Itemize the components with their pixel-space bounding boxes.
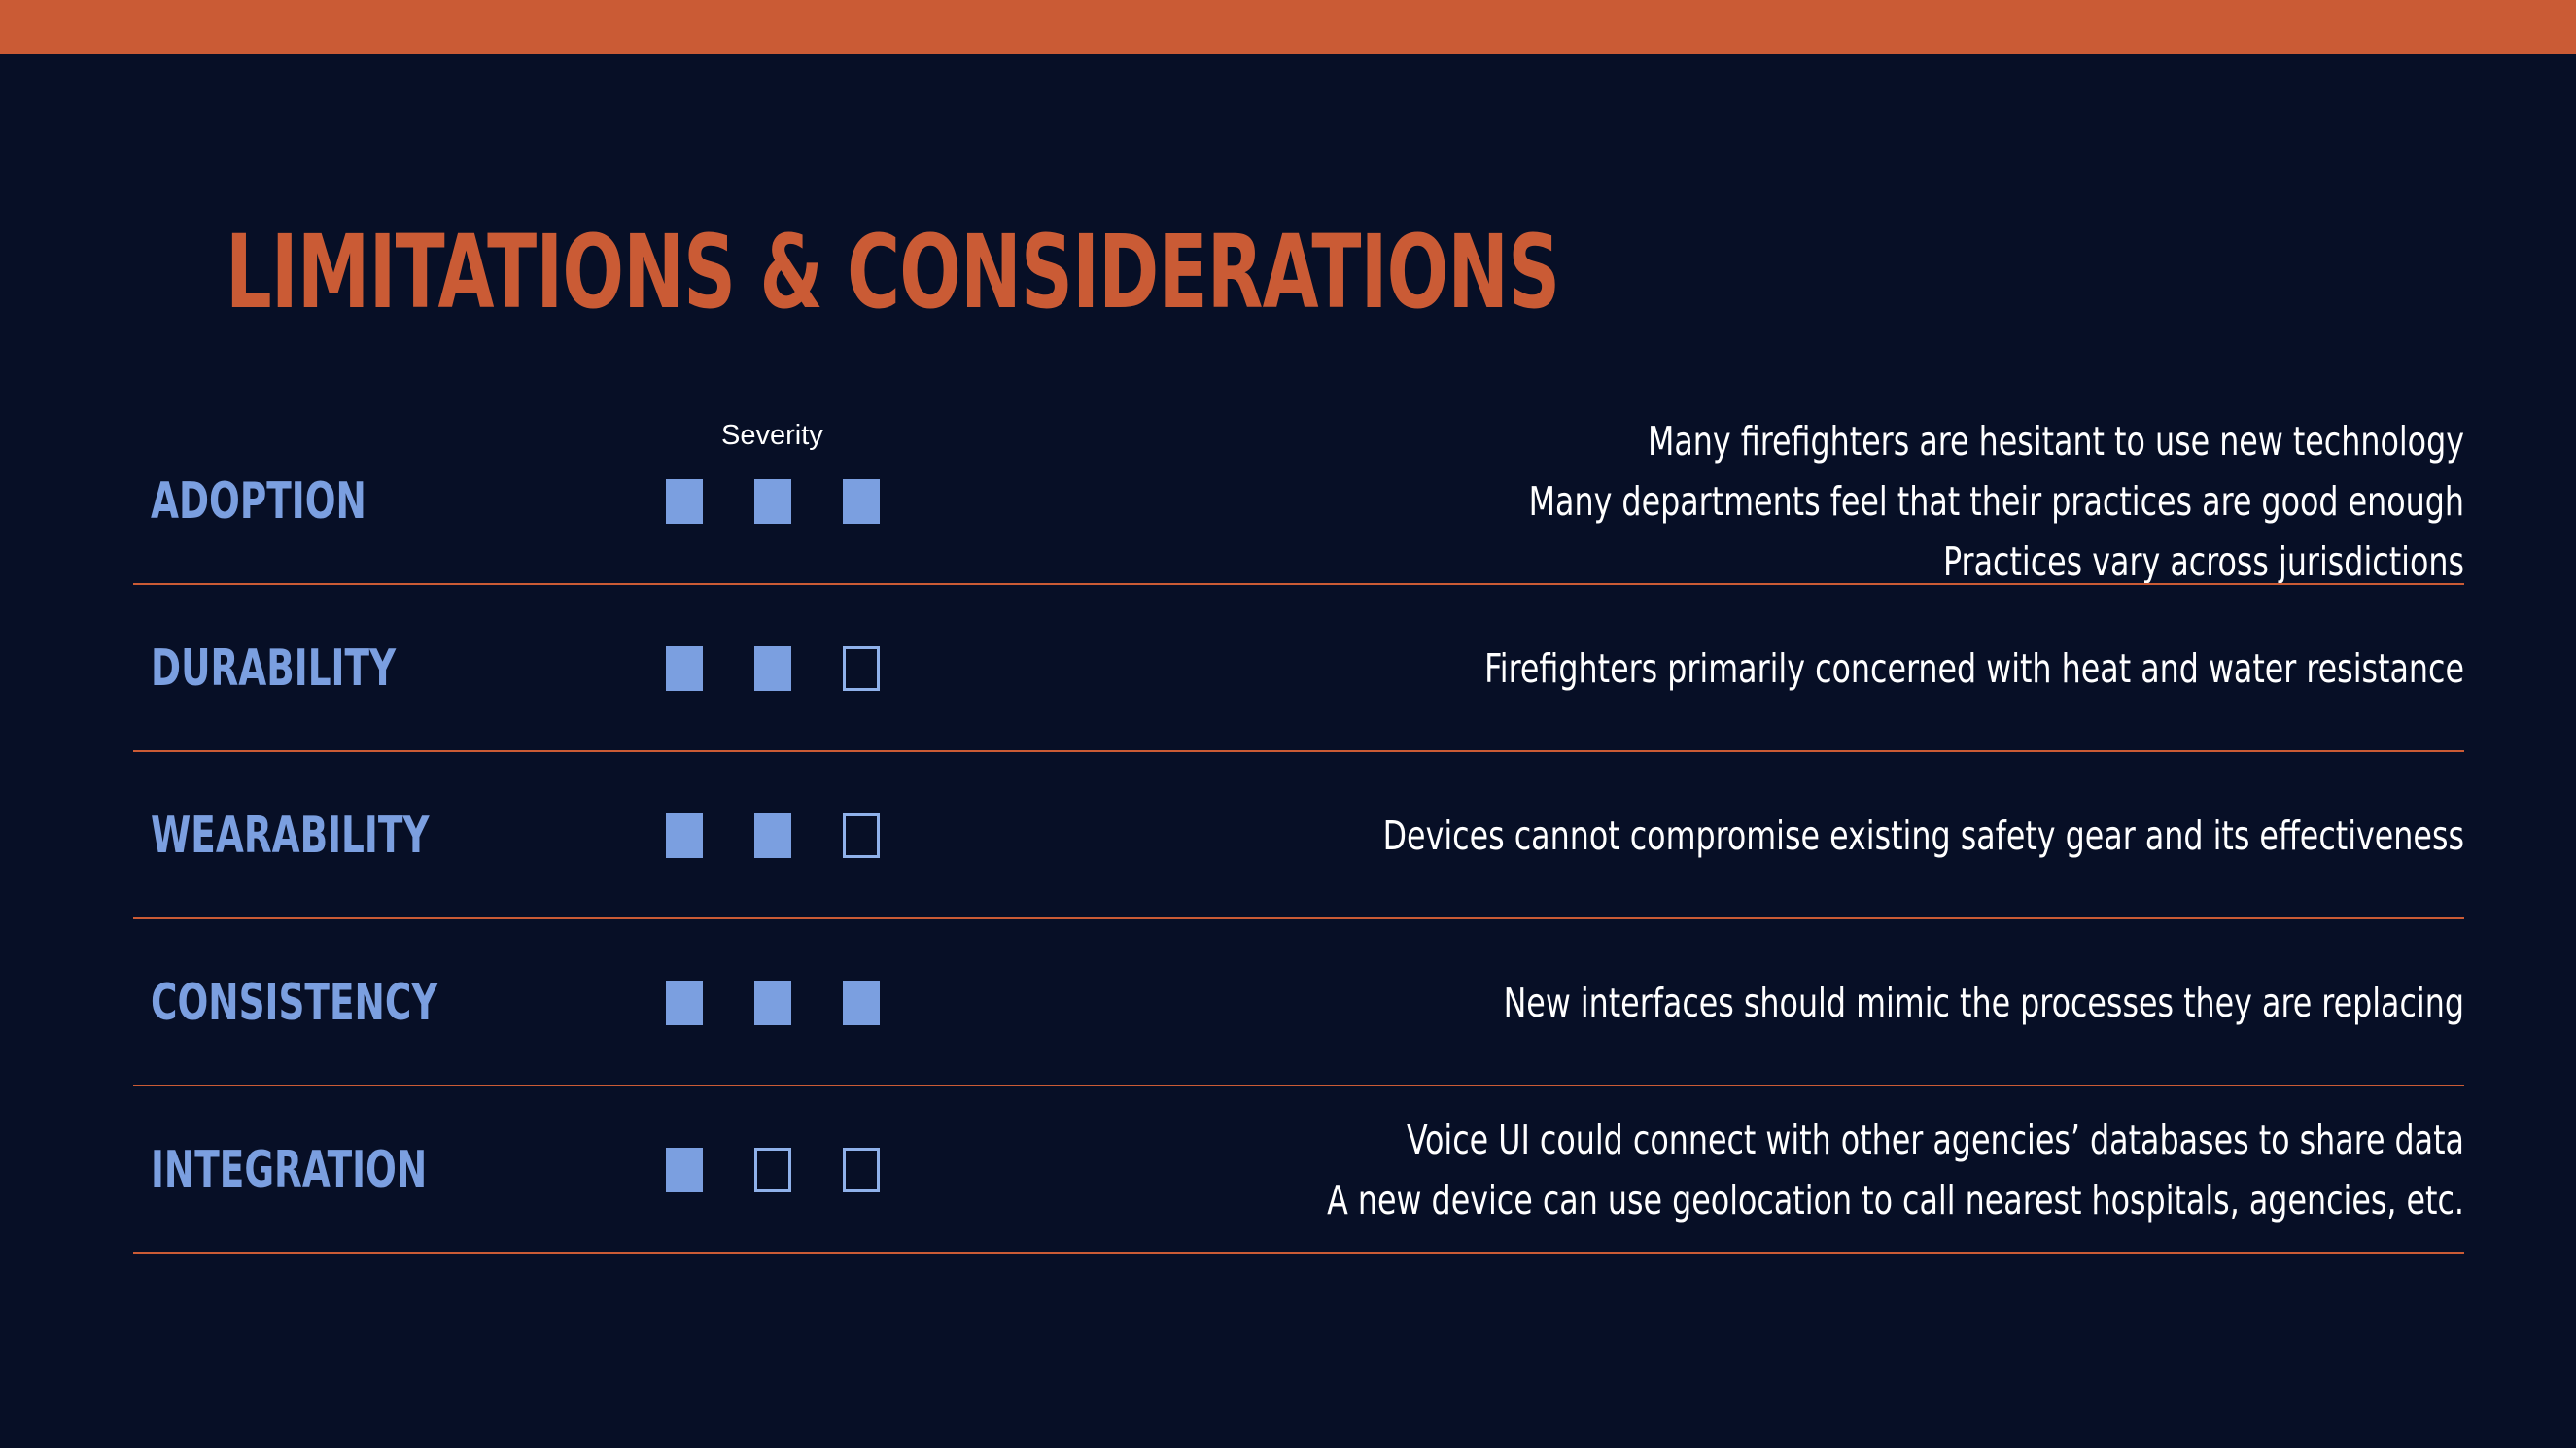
row-description: Many firefighters are hesitant to use ne… <box>1177 411 2464 593</box>
row-description: Voice UI could connect with other agenci… <box>1177 1110 2464 1231</box>
severity-box-empty <box>843 646 880 691</box>
severity-rating <box>666 646 967 691</box>
severity-box-filled <box>754 479 791 524</box>
row-description: Firefighters primarily concerned with he… <box>1177 638 2464 699</box>
severity-box-filled <box>666 646 703 691</box>
severity-box-filled <box>666 981 703 1025</box>
row-content: WEARABILITYDevices cannot compromise exi… <box>0 752 2576 919</box>
severity-box-filled <box>754 646 791 691</box>
severity-rating <box>666 981 967 1025</box>
severity-box-filled <box>754 981 791 1025</box>
severity-box-filled <box>843 981 880 1025</box>
description-line: Many departments feel that their practic… <box>1177 471 2464 532</box>
description-line: Firefighters primarily concerned with he… <box>1177 638 2464 699</box>
severity-box-filled <box>666 479 703 524</box>
severity-box-empty <box>754 1148 791 1192</box>
table-row: ADOPTIONMany firefighters are hesitant t… <box>0 418 2576 585</box>
description-line: Voice UI could connect with other agenci… <box>1177 1110 2464 1170</box>
row-content: DURABILITYFirefighters primarily concern… <box>0 585 2576 752</box>
row-category-label: DURABILITY <box>151 639 563 698</box>
row-category-label: WEARABILITY <box>151 807 563 865</box>
severity-box-empty <box>843 813 880 858</box>
table-row: CONSISTENCYNew interfaces should mimic t… <box>0 919 2576 1086</box>
row-content: ADOPTIONMany firefighters are hesitant t… <box>0 418 2576 585</box>
severity-box-filled <box>754 813 791 858</box>
row-category-label: INTEGRATION <box>151 1141 563 1199</box>
table-row: DURABILITYFirefighters primarily concern… <box>0 585 2576 752</box>
row-description: Devices cannot compromise existing safet… <box>1177 806 2464 866</box>
severity-box-empty <box>843 1148 880 1192</box>
row-category-label: ADOPTION <box>151 472 563 531</box>
description-line: Many firefighters are hesitant to use ne… <box>1177 411 2464 471</box>
severity-rating <box>666 479 967 524</box>
top-accent-bar <box>0 0 2576 54</box>
severity-box-filled <box>666 813 703 858</box>
severity-box-filled <box>843 479 880 524</box>
severity-box-filled <box>666 1148 703 1192</box>
severity-rating <box>666 1148 967 1192</box>
row-divider <box>133 1252 2464 1254</box>
row-category-label: CONSISTENCY <box>151 974 563 1032</box>
table-row: WEARABILITYDevices cannot compromise exi… <box>0 752 2576 919</box>
row-content: INTEGRATIONVoice UI could connect with o… <box>0 1086 2576 1254</box>
severity-rating <box>666 813 967 858</box>
table-row: INTEGRATIONVoice UI could connect with o… <box>0 1086 2576 1254</box>
limitations-matrix: ADOPTIONMany firefighters are hesitant t… <box>0 418 2576 1254</box>
row-description: New interfaces should mimic the processe… <box>1177 973 2464 1033</box>
description-line: New interfaces should mimic the processe… <box>1177 973 2464 1033</box>
description-line: A new device can use geolocation to call… <box>1177 1170 2464 1230</box>
row-content: CONSISTENCYNew interfaces should mimic t… <box>0 919 2576 1086</box>
description-line: Devices cannot compromise existing safet… <box>1177 806 2464 866</box>
page-title: LIMITATIONS & CONSIDERATIONS <box>226 222 1559 323</box>
